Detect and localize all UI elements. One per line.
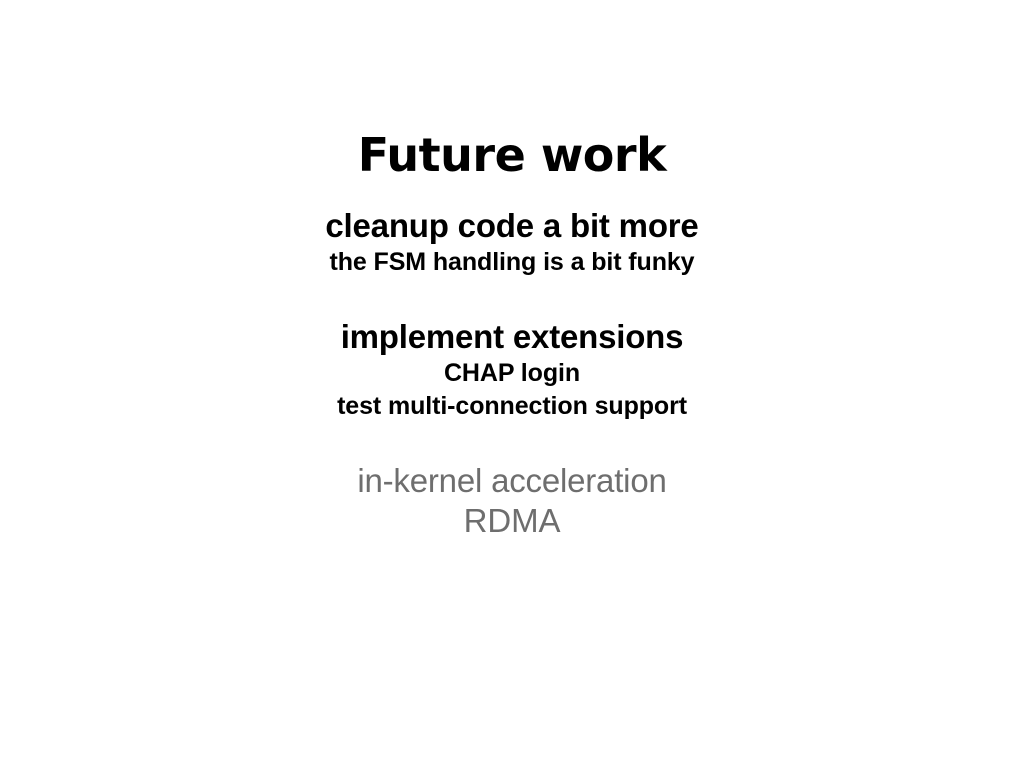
bullet-block-extensions: implement extensions CHAP login test mul… bbox=[0, 317, 1024, 423]
bullet-lead-acceleration: in-kernel acceleration bbox=[0, 461, 1024, 501]
bullet-detail-rdma: RDMA bbox=[0, 501, 1024, 541]
bullet-detail-chap-login: CHAP login bbox=[0, 357, 1024, 390]
slide-body: cleanup code a bit more the FSM handling… bbox=[0, 206, 1024, 541]
bullet-lead-cleanup: cleanup code a bit more bbox=[0, 206, 1024, 246]
bullet-block-cleanup: cleanup code a bit more the FSM handling… bbox=[0, 206, 1024, 279]
bullet-detail-cleanup-fsm: the FSM handling is a bit funky bbox=[0, 246, 1024, 279]
presentation-slide: Future work cleanup code a bit more the … bbox=[0, 0, 1024, 768]
slide-title: Future work bbox=[0, 127, 1024, 183]
bullet-lead-extensions: implement extensions bbox=[0, 317, 1024, 357]
bullet-block-acceleration: in-kernel acceleration RDMA bbox=[0, 461, 1024, 541]
bullet-detail-multi-connection: test multi-connection support bbox=[0, 390, 1024, 423]
